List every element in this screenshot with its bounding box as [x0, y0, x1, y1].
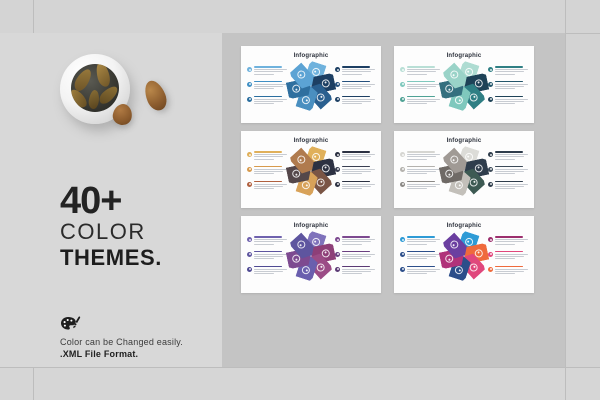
list-item[interactable]	[400, 236, 440, 246]
list-item-body-line	[254, 269, 287, 270]
list-item-heading	[495, 81, 523, 83]
list-item[interactable]	[400, 151, 440, 161]
list-item[interactable]	[488, 251, 528, 261]
list-item-text	[342, 96, 375, 106]
guide-line-right	[565, 0, 566, 400]
hexagon-wheel-diagram	[285, 230, 337, 282]
bullet-check-icon	[247, 182, 252, 187]
list-item-body-line	[254, 101, 283, 102]
list-item-body-line	[342, 256, 371, 257]
list-item-text	[342, 166, 375, 176]
list-item-body-line	[342, 71, 371, 72]
list-item-body-line	[342, 186, 371, 187]
list-item-heading	[254, 166, 282, 168]
list-item-body-line	[254, 84, 287, 85]
list-item[interactable]	[488, 181, 528, 191]
list-item-body-line	[254, 258, 274, 259]
bullet-check-icon	[247, 82, 252, 87]
slide-thumbnail[interactable]: Infographic	[394, 131, 534, 208]
list-item-heading	[407, 236, 435, 238]
slide-left-list	[400, 151, 440, 195]
slide-title: Infographic	[241, 138, 381, 144]
list-item[interactable]	[335, 266, 375, 276]
list-item-body-line	[254, 254, 287, 255]
list-item-body-line	[342, 271, 371, 272]
list-item[interactable]	[335, 166, 375, 176]
list-item-heading	[342, 236, 370, 238]
list-item-text	[254, 66, 287, 76]
list-item-heading	[254, 266, 282, 268]
slide-thumbnail[interactable]: Infographic	[241, 46, 381, 123]
list-item-body-line	[407, 103, 427, 104]
list-item[interactable]	[335, 151, 375, 161]
list-item-heading	[254, 81, 282, 83]
list-item-body-line	[254, 173, 274, 174]
list-item-body-line	[407, 101, 436, 102]
list-item[interactable]	[247, 251, 287, 261]
left-cover-panel: 40+ COLOR THEMES. Color can be Changed e…	[0, 33, 222, 367]
slide-right-list	[488, 66, 528, 110]
list-item-heading	[407, 81, 435, 83]
list-item-body-line	[342, 99, 375, 100]
list-item-text	[407, 66, 440, 76]
segment-glyph-icon	[295, 154, 306, 165]
list-item-text	[407, 266, 440, 276]
list-item-heading	[407, 151, 435, 153]
list-item-body-line	[495, 69, 528, 70]
list-item-heading	[407, 181, 435, 183]
list-item-body-line	[342, 101, 371, 102]
list-item-heading	[407, 96, 435, 98]
list-item-body-line	[254, 186, 283, 187]
slide-title: Infographic	[394, 53, 534, 59]
list-item-body-line	[254, 271, 283, 272]
list-item-heading	[342, 96, 370, 98]
list-item-body-line	[407, 244, 427, 245]
list-item-body-line	[495, 269, 528, 270]
list-item-body-line	[254, 99, 287, 100]
list-item-text	[495, 266, 528, 276]
list-item-text	[342, 181, 375, 191]
list-item-body-line	[254, 188, 274, 189]
list-item-body-line	[407, 254, 440, 255]
list-item[interactable]	[488, 81, 528, 91]
list-item-body-line	[407, 271, 436, 272]
list-item-body-line	[495, 159, 515, 160]
list-item-text	[407, 236, 440, 246]
list-item-body-line	[342, 69, 375, 70]
list-item-heading	[254, 181, 282, 183]
list-item-body-line	[495, 156, 524, 157]
slide-thumbnail[interactable]: Infographic	[241, 216, 381, 293]
bullet-check-icon	[247, 167, 252, 172]
slide-left-list	[247, 236, 287, 280]
list-item-body-line	[254, 244, 274, 245]
list-item-body-line	[254, 88, 274, 89]
list-item[interactable]	[247, 151, 287, 161]
list-item-body-line	[254, 156, 283, 157]
bowl-of-nuts-photo	[58, 48, 178, 143]
list-item-body-line	[254, 169, 287, 170]
list-item[interactable]	[247, 81, 287, 91]
list-item-body-line	[407, 256, 436, 257]
list-item-body-line	[342, 84, 375, 85]
list-item-heading	[495, 96, 523, 98]
hexagon-wheel-diagram	[438, 145, 490, 197]
list-item[interactable]	[488, 266, 528, 276]
list-item-body-line	[407, 269, 440, 270]
list-item-text	[254, 151, 287, 161]
hexagon-wheel-diagram	[285, 145, 337, 197]
list-item-text	[342, 251, 375, 261]
list-item-body-line	[495, 239, 528, 240]
list-item[interactable]	[400, 81, 440, 91]
slide-left-list	[247, 66, 287, 110]
acorn-icon	[141, 78, 170, 114]
list-item-heading	[254, 66, 282, 68]
list-item-heading	[495, 151, 523, 153]
list-item-text	[342, 266, 375, 276]
list-item-heading	[342, 266, 370, 268]
list-item-body-line	[495, 258, 515, 259]
list-item-body-line	[342, 169, 375, 170]
list-item[interactable]	[247, 66, 287, 76]
list-item[interactable]	[488, 66, 528, 76]
list-item-body-line	[342, 159, 362, 160]
list-item-text	[495, 66, 528, 76]
list-item-body-line	[495, 154, 528, 155]
list-item-body-line	[342, 173, 362, 174]
list-item-text	[495, 181, 528, 191]
list-item-heading	[407, 266, 435, 268]
list-item[interactable]	[335, 96, 375, 106]
list-item-body-line	[342, 184, 375, 185]
list-item-body-line	[407, 184, 440, 185]
list-item-body-line	[407, 86, 436, 87]
list-item-body-line	[407, 239, 440, 240]
list-item-body-line	[254, 273, 274, 274]
bowl-contents	[71, 64, 119, 112]
list-item[interactable]	[247, 181, 287, 191]
list-item[interactable]	[488, 166, 528, 176]
hexagon-wheel-diagram	[438, 230, 490, 282]
list-item-heading	[495, 236, 523, 238]
list-item[interactable]	[247, 236, 287, 246]
list-item-text	[407, 96, 440, 106]
list-item-body-line	[254, 154, 287, 155]
slide-thumbnail[interactable]: Infographic	[394, 216, 534, 293]
list-item-body-line	[407, 88, 427, 89]
list-item-body-line	[254, 103, 274, 104]
segment-glyph-icon	[448, 154, 459, 165]
list-item-body-line	[254, 86, 283, 87]
bottom-background-strip	[0, 367, 600, 400]
footnote-line-1: Color can be Changed easily.	[60, 337, 220, 347]
list-item-body-line	[254, 239, 287, 240]
list-item-body-line	[342, 103, 362, 104]
slide-thumbnail[interactable]: Infographic	[241, 131, 381, 208]
headline-count: 40+	[60, 183, 220, 219]
list-item-heading	[495, 251, 523, 253]
right-slides-panel: InfographicInfographicInfographicInfogra…	[222, 33, 565, 367]
list-item-heading	[342, 181, 370, 183]
list-item-body-line	[254, 159, 274, 160]
slide-thumbnail[interactable]: Infographic	[394, 46, 534, 123]
list-item-body-line	[407, 84, 440, 85]
list-item-body-line	[342, 244, 362, 245]
list-item-body-line	[495, 188, 515, 189]
slide-right-list	[488, 236, 528, 280]
list-item-text	[254, 236, 287, 246]
bullet-check-icon	[400, 97, 405, 102]
slide-left-list	[400, 66, 440, 110]
list-item-body-line	[342, 88, 362, 89]
list-item-body-line	[407, 74, 427, 75]
list-item-body-line	[407, 154, 440, 155]
list-item-body-line	[495, 184, 528, 185]
list-item-heading	[407, 166, 435, 168]
list-item-body-line	[407, 169, 440, 170]
list-item-text	[407, 151, 440, 161]
list-item-heading	[342, 151, 370, 153]
list-item-body-line	[407, 273, 427, 274]
list-item-heading	[254, 236, 282, 238]
slide-right-list	[335, 66, 375, 110]
bullet-check-icon	[400, 237, 405, 242]
list-item-body-line	[254, 256, 283, 257]
list-item-body-line	[495, 271, 524, 272]
bullet-check-icon	[400, 67, 405, 72]
list-item-body-line	[342, 171, 371, 172]
slide-title: Infographic	[241, 223, 381, 229]
list-item-text	[495, 96, 528, 106]
list-item-body-line	[407, 99, 440, 100]
list-item-heading	[407, 251, 435, 253]
list-item-text	[407, 81, 440, 91]
list-item-body-line	[342, 258, 362, 259]
list-item-body-line	[495, 186, 524, 187]
bullet-check-icon	[400, 82, 405, 87]
bullet-check-icon	[400, 167, 405, 172]
bullet-check-icon	[400, 267, 405, 272]
list-item-body-line	[495, 101, 524, 102]
list-item[interactable]	[400, 166, 440, 176]
list-item-body-line	[495, 71, 524, 72]
list-item-text	[254, 96, 287, 106]
list-item-body-line	[254, 241, 283, 242]
list-item-body-line	[495, 103, 515, 104]
segment-glyph-icon	[448, 239, 459, 250]
list-item-heading	[342, 66, 370, 68]
list-item[interactable]	[247, 96, 287, 106]
slide-right-list	[335, 236, 375, 280]
bullet-check-icon	[247, 152, 252, 157]
list-item[interactable]	[335, 251, 375, 261]
list-item-body-line	[495, 86, 524, 87]
list-item-body-line	[342, 188, 362, 189]
list-item-body-line	[407, 173, 427, 174]
list-item-body-line	[495, 74, 515, 75]
list-item[interactable]	[400, 66, 440, 76]
list-item-body-line	[407, 159, 427, 160]
list-item-body-line	[407, 258, 427, 259]
bullet-check-icon	[247, 67, 252, 72]
palette-brush-icon	[60, 316, 82, 332]
bullet-check-icon	[400, 252, 405, 257]
list-item-text	[407, 181, 440, 191]
list-item-body-line	[407, 241, 436, 242]
slide-title: Infographic	[241, 53, 381, 59]
guide-line-bottom	[0, 367, 600, 368]
list-item-body-line	[407, 171, 436, 172]
list-item-body-line	[254, 184, 287, 185]
list-item-text	[342, 151, 375, 161]
bullet-check-icon	[247, 97, 252, 102]
list-item-heading	[407, 66, 435, 68]
list-item[interactable]	[335, 236, 375, 246]
list-item-heading	[495, 266, 523, 268]
list-item-body-line	[342, 156, 371, 157]
slide-title: Infographic	[394, 138, 534, 144]
list-item[interactable]	[247, 266, 287, 276]
list-item-body-line	[254, 171, 283, 172]
bullet-check-icon	[247, 252, 252, 257]
list-item-text	[495, 236, 528, 246]
list-item-body-line	[495, 169, 528, 170]
list-item-body-line	[342, 239, 375, 240]
list-item-text	[342, 81, 375, 91]
list-item-text	[342, 66, 375, 76]
list-item-heading	[495, 181, 523, 183]
list-item-text	[495, 81, 528, 91]
list-item-heading	[495, 166, 523, 168]
hexagon-wheel-diagram	[438, 60, 490, 112]
list-item[interactable]	[247, 166, 287, 176]
footnote-line-2: .XML File Format.	[60, 349, 220, 359]
list-item[interactable]	[335, 181, 375, 191]
list-item-body-line	[495, 99, 528, 100]
list-item-text	[254, 266, 287, 276]
bullet-check-icon	[400, 152, 405, 157]
list-item-text	[495, 251, 528, 261]
list-item-text	[254, 181, 287, 191]
slide-left-list	[400, 236, 440, 280]
slide-right-list	[488, 151, 528, 195]
list-item-body-line	[495, 273, 515, 274]
top-background-strip	[0, 0, 600, 33]
list-item[interactable]	[400, 266, 440, 276]
list-item-body-line	[407, 69, 440, 70]
slide-grid: InfographicInfographicInfographicInfogra…	[241, 46, 534, 293]
bullet-check-icon	[400, 182, 405, 187]
list-item-body-line	[254, 71, 283, 72]
list-item-text	[407, 166, 440, 176]
footnote-block: Color can be Changed easily. .XML File F…	[60, 316, 220, 359]
list-item[interactable]	[400, 96, 440, 106]
list-item-text	[254, 81, 287, 91]
list-item-heading	[342, 166, 370, 168]
list-item-body-line	[342, 74, 362, 75]
slide-right-list	[335, 151, 375, 195]
list-item-body-line	[342, 154, 375, 155]
headline-line3: THEMES.	[60, 245, 220, 271]
list-item-heading	[342, 251, 370, 253]
list-item-body-line	[495, 171, 524, 172]
list-item-body-line	[495, 244, 515, 245]
bullet-check-icon	[247, 237, 252, 242]
list-item-text	[254, 251, 287, 261]
list-item-body-line	[254, 69, 287, 70]
slide-left-list	[247, 151, 287, 195]
list-item-body-line	[254, 74, 274, 75]
list-item-heading	[342, 81, 370, 83]
list-item[interactable]	[335, 66, 375, 76]
list-item-text	[495, 166, 528, 176]
list-item-body-line	[342, 273, 362, 274]
list-item-heading	[254, 96, 282, 98]
list-item-heading	[254, 151, 282, 153]
list-item-body-line	[495, 241, 524, 242]
list-item[interactable]	[400, 251, 440, 261]
bullet-check-icon	[247, 267, 252, 272]
list-item-body-line	[495, 254, 528, 255]
headline-block: 40+ COLOR THEMES.	[60, 183, 220, 271]
list-item-text	[254, 166, 287, 176]
list-item-text	[407, 251, 440, 261]
list-item-body-line	[342, 86, 371, 87]
list-item-body-line	[495, 88, 515, 89]
list-item-heading	[254, 251, 282, 253]
list-item[interactable]	[400, 181, 440, 191]
slide-title: Infographic	[394, 223, 534, 229]
list-item-body-line	[342, 241, 371, 242]
segment-glyph-icon	[295, 69, 306, 80]
list-item-body-line	[342, 254, 375, 255]
list-item-body-line	[407, 71, 436, 72]
list-item-body-line	[495, 84, 528, 85]
segment-glyph-icon	[448, 69, 459, 80]
list-item-text	[342, 236, 375, 246]
presentation-mockup-canvas: 40+ COLOR THEMES. Color can be Changed e…	[0, 0, 600, 400]
list-item-body-line	[407, 156, 436, 157]
headline-line2: COLOR	[60, 219, 220, 245]
list-item-body-line	[407, 186, 436, 187]
list-item[interactable]	[488, 151, 528, 161]
list-item-body-line	[495, 173, 515, 174]
list-item[interactable]	[488, 236, 528, 246]
hexagon-wheel-diagram	[285, 60, 337, 112]
list-item-body-line	[342, 269, 375, 270]
list-item[interactable]	[335, 81, 375, 91]
list-item-body-line	[407, 188, 427, 189]
list-item-heading	[495, 66, 523, 68]
segment-glyph-icon	[295, 239, 306, 250]
list-item-text	[495, 151, 528, 161]
list-item[interactable]	[488, 96, 528, 106]
list-item-body-line	[495, 256, 524, 257]
